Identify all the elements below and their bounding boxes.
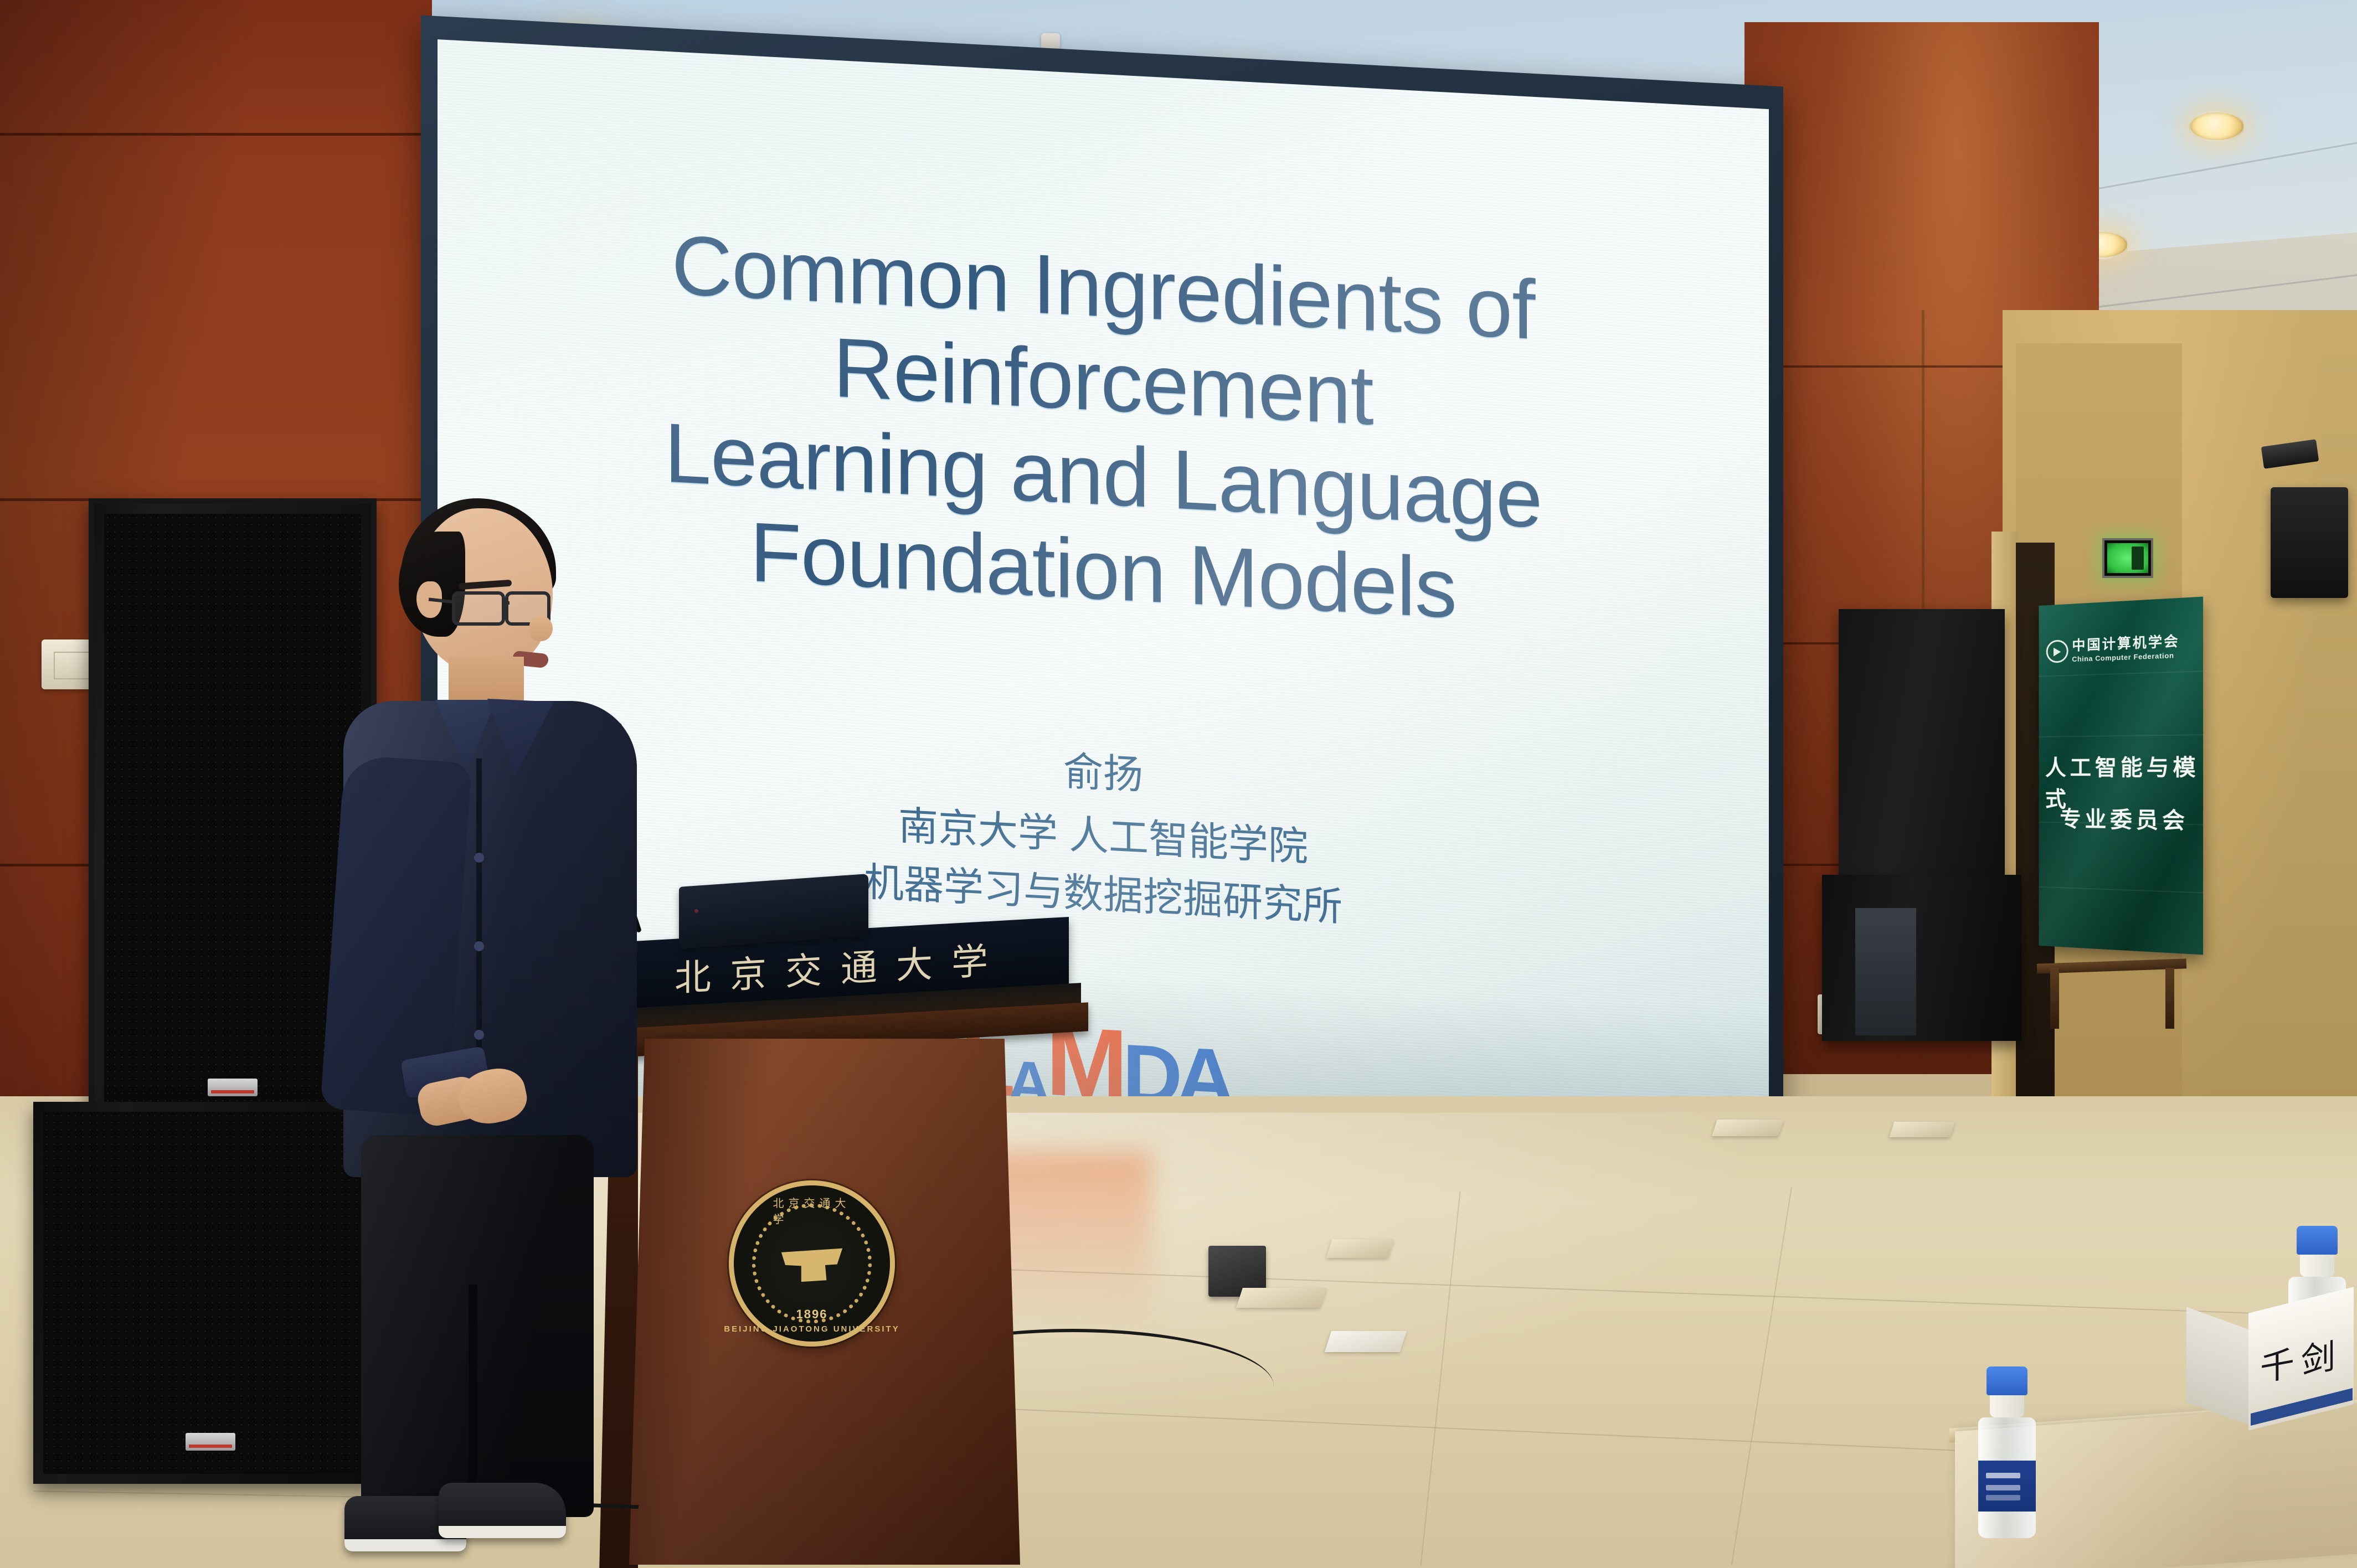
presenter-nose bbox=[529, 616, 553, 641]
subwoofer-right bbox=[1822, 875, 2021, 1041]
eyeglasses-icon bbox=[452, 591, 505, 626]
shirt-button bbox=[474, 941, 484, 951]
name-card-left-face bbox=[2186, 1307, 2252, 1426]
bottle-body bbox=[1978, 1417, 2036, 1538]
bottle-neck bbox=[1990, 1395, 2024, 1417]
ceiling-downlight bbox=[2189, 111, 2245, 142]
emergency-exit-icon bbox=[2102, 538, 2153, 578]
trouser-leg-gap bbox=[469, 1285, 477, 1517]
floor-outlet-plate bbox=[1326, 1239, 1394, 1258]
ccf-emblem-icon bbox=[2046, 639, 2068, 663]
eyeglasses-bridge bbox=[503, 601, 510, 605]
bottle-cap bbox=[2297, 1226, 2338, 1255]
ccf-org-block: 中国计算机学会 China Computer Federation bbox=[2046, 633, 2195, 664]
shirt-button bbox=[474, 1030, 484, 1040]
water-bottle bbox=[1977, 1366, 2037, 1538]
speaker-brand-badge bbox=[208, 1079, 258, 1096]
bottle-cap bbox=[1987, 1366, 2027, 1395]
slide-subtitle: 俞扬 南京大学 人工智能学院 机器学习与数据挖掘研究所 bbox=[864, 732, 1342, 936]
presenter-person bbox=[310, 498, 698, 1568]
wall-speaker bbox=[2271, 487, 2348, 598]
presenter-shoe bbox=[439, 1483, 566, 1538]
ccf-banner: 中国计算机学会 China Computer Federation 人工智能与模… bbox=[2039, 597, 2204, 955]
table-name-card: 千剑 bbox=[2186, 1300, 2350, 1414]
bottle-label bbox=[1978, 1461, 2036, 1512]
presenter-trousers bbox=[361, 1135, 594, 1517]
emblem-anvil-icon bbox=[779, 1244, 845, 1283]
lecture-hall-photo: Common Ingredients of Reinforcement Lear… bbox=[0, 0, 2357, 1568]
university-emblem: 1896 北京交通大学 BEIJING JIAOTONG UNIVERSITY bbox=[729, 1180, 895, 1347]
bottle-neck bbox=[2300, 1255, 2334, 1277]
emblem-founding-year: 1896 bbox=[796, 1307, 828, 1322]
ccf-committee-line-2: 专业委员会 bbox=[2060, 801, 2203, 835]
floor-outlet-plate bbox=[1325, 1331, 1407, 1352]
floor-outlet-plate bbox=[1712, 1120, 1784, 1136]
emblem-name-en: BEIJING JIAOTONG UNIVERSITY bbox=[724, 1324, 899, 1334]
emblem-name-cn: 北京交通大学 bbox=[773, 1194, 851, 1226]
floor-outlet-plate bbox=[1889, 1122, 1955, 1137]
presenter-laptop[interactable] bbox=[679, 874, 868, 949]
name-card-text: 千剑 bbox=[2260, 1327, 2342, 1391]
amplifier-unit bbox=[1855, 908, 1916, 1035]
floor-outlet-plate bbox=[1236, 1288, 1327, 1308]
shirt-button bbox=[474, 853, 484, 863]
speaker-brand-badge bbox=[186, 1433, 235, 1451]
